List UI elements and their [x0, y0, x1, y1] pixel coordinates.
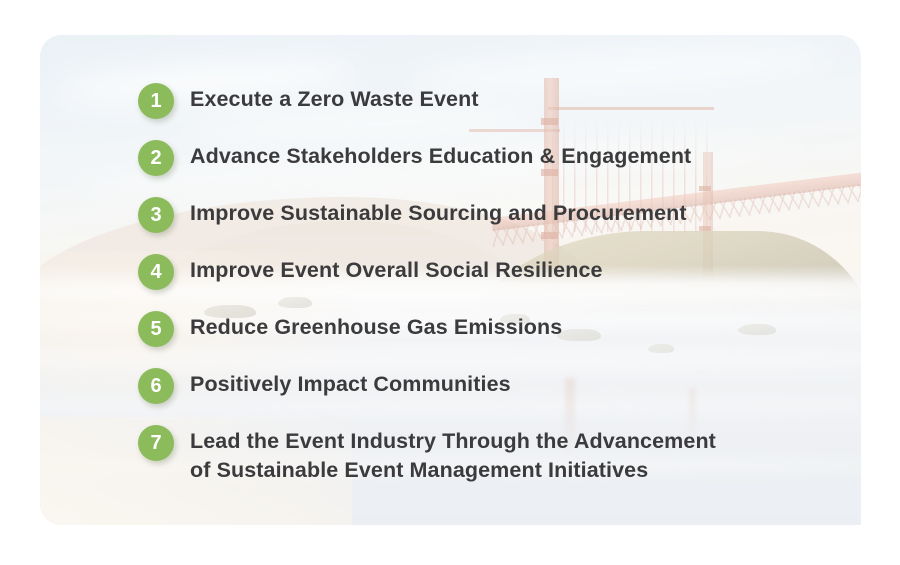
- list-item: 3 Improve Sustainable Sourcing and Procu…: [138, 196, 861, 233]
- item-number-badge: 7: [138, 425, 174, 461]
- list-item: 4 Improve Event Overall Social Resilienc…: [138, 253, 861, 290]
- item-number-badge: 4: [138, 254, 174, 290]
- item-label: Execute a Zero Waste Event: [190, 82, 479, 114]
- list-item: 6 Positively Impact Communities: [138, 367, 861, 404]
- page-canvas: 1 Execute a Zero Waste Event 2 Advance S…: [0, 0, 900, 565]
- list-item: 5 Reduce Greenhouse Gas Emissions: [138, 310, 861, 347]
- item-label: Advance Stakeholders Education & Engagem…: [190, 139, 691, 171]
- item-label: Lead the Event Industry Through the Adva…: [190, 424, 716, 485]
- goals-card: 1 Execute a Zero Waste Event 2 Advance S…: [40, 35, 861, 525]
- list-item: 2 Advance Stakeholders Education & Engag…: [138, 139, 861, 176]
- item-label: Positively Impact Communities: [190, 367, 511, 399]
- list-item: 7 Lead the Event Industry Through the Ad…: [138, 424, 861, 485]
- item-label: Improve Sustainable Sourcing and Procure…: [190, 196, 687, 228]
- item-number-badge: 3: [138, 197, 174, 233]
- item-label: Reduce Greenhouse Gas Emissions: [190, 310, 562, 342]
- item-number-badge: 1: [138, 83, 174, 119]
- list-item: 1 Execute a Zero Waste Event: [138, 82, 861, 119]
- item-number-badge: 5: [138, 311, 174, 347]
- item-number-badge: 2: [138, 140, 174, 176]
- item-number-badge: 6: [138, 368, 174, 404]
- item-label: Improve Event Overall Social Resilience: [190, 253, 603, 285]
- goals-list: 1 Execute a Zero Waste Event 2 Advance S…: [40, 35, 861, 525]
